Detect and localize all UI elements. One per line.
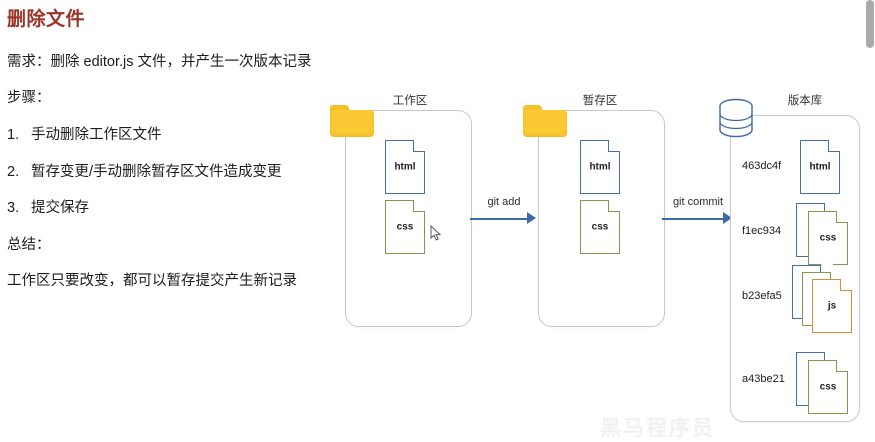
- scrollbar-thumb[interactable]: [866, 0, 874, 48]
- arrow-label: git commit: [662, 196, 734, 208]
- slide-page: 删除文件 需求：删除 editor.js 文件，并产生一次版本记录 步骤： 1.…: [0, 0, 875, 442]
- file-label: html: [581, 162, 619, 173]
- file-card-css: css: [808, 360, 848, 414]
- database-icon: [717, 98, 755, 140]
- file-label: css: [809, 233, 847, 244]
- file-label: css: [581, 222, 619, 233]
- watermark: 黑马程序员: [600, 412, 870, 440]
- file-label: css: [386, 222, 424, 233]
- commit-files: html: [800, 140, 856, 198]
- mouse-cursor-icon: [430, 225, 442, 242]
- scrollbar-track[interactable]: [866, 0, 875, 442]
- file-card-css: css: [808, 211, 848, 265]
- arrow-label: git add: [470, 196, 538, 208]
- commit-files: js: [792, 265, 858, 335]
- folder-icon: [523, 105, 567, 137]
- file-label: css: [809, 382, 847, 393]
- folder-icon: [330, 105, 374, 137]
- file-card-css: css: [580, 200, 620, 254]
- zone-title-repository: 版本库: [750, 92, 860, 108]
- arrow-git-commit: git commit: [662, 196, 734, 226]
- commit-hash: 463dc4f: [742, 160, 781, 172]
- commit-hash: b23efa5: [742, 290, 782, 302]
- file-card-js: js: [812, 279, 852, 333]
- commit-files: css: [796, 203, 856, 265]
- commit-hash: a43be21: [742, 373, 785, 385]
- file-label: js: [813, 301, 851, 312]
- commit-hash: f1ec934: [742, 225, 781, 237]
- file-label: html: [801, 162, 839, 173]
- file-label: html: [386, 162, 424, 173]
- file-card-html: html: [800, 140, 840, 194]
- git-flow-diagram: 工作区 暂存区 版本库 html css git add: [0, 0, 875, 442]
- commit-files: css: [796, 352, 856, 414]
- arrow-git-add: git add: [470, 196, 538, 226]
- file-card-html: html: [385, 140, 425, 194]
- file-card-html: html: [580, 140, 620, 194]
- file-card-css: css: [385, 200, 425, 254]
